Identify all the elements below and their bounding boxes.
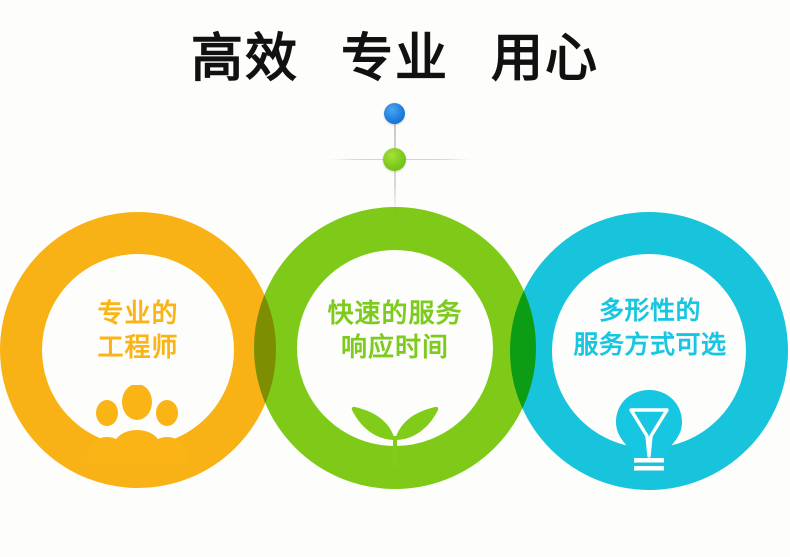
circle-engineers-line-1: 专业的 bbox=[38, 296, 238, 330]
circle-content-engineers: 专业的 工程师 bbox=[38, 296, 238, 364]
circle-engineers-line-2: 工程师 bbox=[38, 330, 238, 364]
circle-content-response-time: 快速的服务 响应时间 bbox=[295, 296, 495, 364]
circle-response-line-2: 响应时间 bbox=[295, 330, 495, 364]
circle-service-line-1: 多形性的 bbox=[548, 294, 752, 328]
circle-response-line-1: 快速的服务 bbox=[295, 296, 495, 330]
people-group-icon bbox=[83, 385, 191, 463]
lightbulb-icon bbox=[607, 388, 691, 472]
circle-service-line-2: 服务方式可选 bbox=[548, 328, 752, 362]
venn-rings-group bbox=[0, 0, 790, 557]
sprout-leaf-icon bbox=[338, 388, 452, 468]
circle-content-service-modes: 多形性的 服务方式可选 bbox=[548, 294, 752, 362]
infographic-canvas: 高效专业用心 专业的 工程师 快速的服务 响应时间 多形性的 服务方式可选 bbox=[0, 0, 790, 557]
